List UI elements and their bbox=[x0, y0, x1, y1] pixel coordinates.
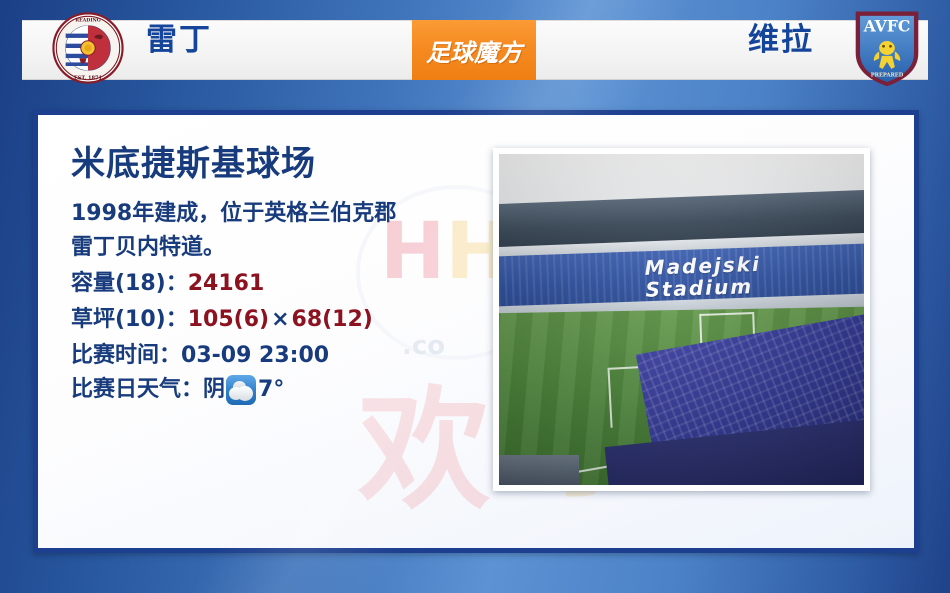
match-stadium-card: READING EST. 1871 雷丁 足球魔方 维拉 bbox=[0, 0, 950, 593]
capacity-label: 容量(18)： bbox=[71, 271, 188, 296]
pitch-row: 草坪(10)：105(6)×68(12) bbox=[71, 303, 491, 337]
capacity-row: 容量(18)：24161 bbox=[71, 267, 491, 301]
site-logo-text: 足球魔方 bbox=[412, 33, 536, 68]
stadium-photo: Madejski Stadium bbox=[499, 154, 864, 485]
cloudy-icon bbox=[226, 375, 256, 405]
capacity-value: 24161 bbox=[188, 271, 265, 296]
match-time-label: 比赛时间： bbox=[71, 343, 181, 368]
stadium-info: 米底捷斯基球场 1998年建成，位于英格兰伯克郡 雷丁贝内特道。 容量(18)：… bbox=[71, 143, 491, 407]
svg-text:READING: READING bbox=[75, 17, 101, 23]
svg-text:AVFC: AVFC bbox=[863, 16, 911, 35]
aston-villa-crest: AVFC PREPARED bbox=[852, 8, 922, 88]
away-team-name: 维拉 bbox=[748, 22, 814, 58]
reading-fc-crest: READING EST. 1871 bbox=[52, 12, 124, 84]
content-panel: HH .co 欢 呀 米底捷斯基球场 1998年建成，位于英格兰伯克郡 雷丁贝内… bbox=[33, 110, 919, 553]
stadium-description-line-1: 1998年建成，位于英格兰伯克郡 bbox=[71, 197, 491, 231]
match-time-value: 03-09 23:00 bbox=[181, 343, 329, 368]
home-team-name: 雷丁 bbox=[146, 22, 212, 58]
svg-text:EST. 1871: EST. 1871 bbox=[74, 76, 102, 82]
match-time-row: 比赛时间：03-09 23:00 bbox=[71, 339, 491, 373]
weather-label: 比赛日天气：阴 bbox=[71, 373, 225, 407]
site-logo[interactable]: 足球魔方 bbox=[412, 20, 536, 80]
photo-vignette bbox=[499, 154, 864, 485]
stadium-description-line-2: 雷丁贝内特道。 bbox=[71, 231, 491, 265]
pitch-width: 68(12) bbox=[292, 307, 373, 332]
weather-row: 比赛日天气：阴7° bbox=[71, 373, 491, 407]
stadium-photo-frame: Madejski Stadium bbox=[493, 148, 870, 491]
pitch-separator: × bbox=[269, 307, 291, 332]
match-header: READING EST. 1871 雷丁 足球魔方 维拉 bbox=[0, 0, 950, 95]
svg-text:PREPARED: PREPARED bbox=[871, 73, 904, 79]
stadium-title: 米底捷斯基球场 bbox=[71, 143, 491, 185]
weather-temperature: 7° bbox=[258, 373, 284, 407]
pitch-label: 草坪(10)： bbox=[71, 307, 188, 332]
pitch-length: 105(6) bbox=[188, 307, 269, 332]
